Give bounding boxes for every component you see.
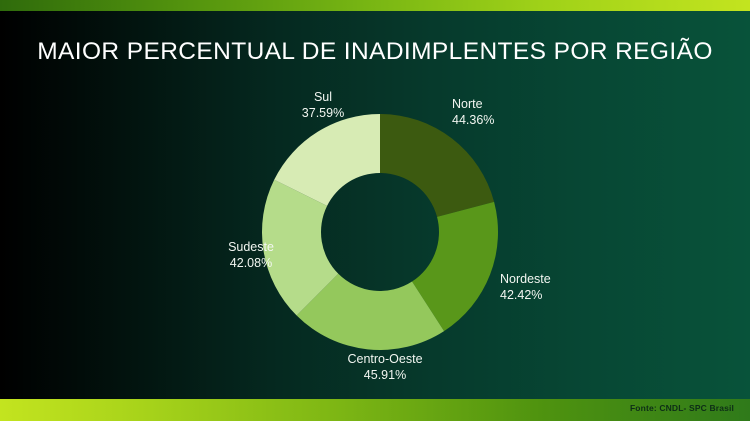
slice-label-sul: Sul 37.59%: [268, 90, 378, 121]
slice-label-norte: Norte 44.36%: [452, 97, 494, 128]
slice-label-sudeste: Sudeste 42.08%: [196, 240, 306, 271]
slice-name-sul: Sul: [268, 90, 378, 106]
slide-canvas: MAIOR PERCENTUAL DE INADIMPLENTES POR RE…: [0, 0, 750, 421]
slice-name-sudeste: Sudeste: [196, 240, 306, 256]
slice-label-nordeste: Nordeste 42.42%: [500, 272, 551, 303]
slice-name-nordeste: Nordeste: [500, 272, 551, 288]
donut-chart: Norte 44.36% Nordeste 42.42% Centro-Oest…: [0, 0, 750, 421]
slice-name-norte: Norte: [452, 97, 494, 113]
donut-slices: [262, 114, 498, 350]
slice-value-nordeste: 42.42%: [500, 288, 551, 304]
slice-name-centro-oeste: Centro-Oeste: [312, 352, 458, 368]
bottom-accent-bar: Fonte: CNDL- SPC Brasil: [0, 399, 750, 421]
source-attribution: Fonte: CNDL- SPC Brasil: [630, 403, 734, 413]
slice-value-norte: 44.36%: [452, 113, 494, 129]
slice-value-sul: 37.59%: [268, 106, 378, 122]
donut-slice-norte[interactable]: [380, 114, 494, 217]
slice-value-sudeste: 42.08%: [196, 256, 306, 272]
slice-label-centro-oeste: Centro-Oeste 45.91%: [312, 352, 458, 383]
slice-value-centro-oeste: 45.91%: [312, 368, 458, 384]
